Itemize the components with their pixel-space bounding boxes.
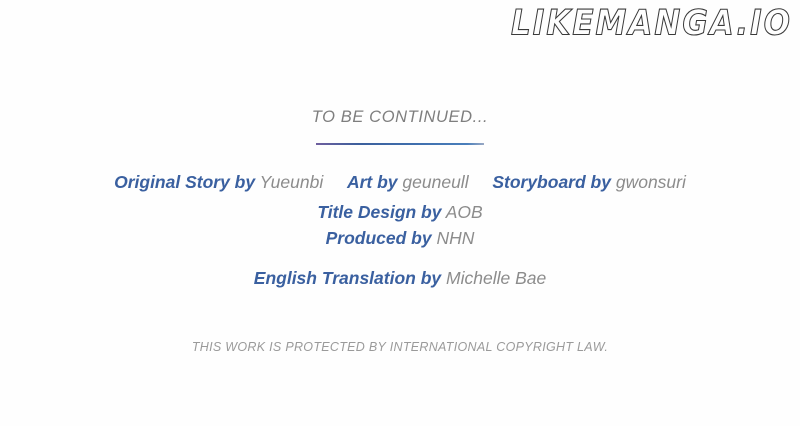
credit-person: NHN: [436, 228, 474, 248]
credit-person: Michelle Bae: [446, 268, 546, 288]
credit-person: AOB: [446, 202, 483, 222]
copyright-notice: THIS WORK IS PROTECTED BY INTERNATIONAL …: [0, 340, 800, 354]
credit-line-2: Title Design by AOB: [0, 201, 800, 223]
credit-role: English Translation by: [254, 268, 441, 288]
credit-person: gwonsuri: [616, 172, 686, 192]
likemanga-watermark: LIKEMANGA.IO: [511, 2, 792, 45]
credit-person: Yueunbi: [260, 172, 324, 192]
credit-role: Storyboard by: [492, 172, 611, 192]
credit-role: Art by: [347, 172, 398, 192]
divider-rule: [316, 143, 484, 145]
credit-role: Produced by: [326, 228, 432, 248]
credit-line-3: Produced by NHN: [0, 227, 800, 249]
to-be-continued-label: TO BE CONTINUED...: [0, 108, 800, 127]
credit-line-1: Original Story by Yueunbi Art by geuneul…: [0, 171, 800, 193]
chapter-end-page: LIKEMANGA.IO TO BE CONTINUED... Original…: [0, 0, 800, 426]
credit-role: Title Design by: [317, 202, 441, 222]
credit-role: Original Story by: [114, 172, 255, 192]
credit-person: geuneull: [402, 172, 468, 192]
credit-line-4: English Translation by Michelle Bae: [0, 267, 800, 289]
